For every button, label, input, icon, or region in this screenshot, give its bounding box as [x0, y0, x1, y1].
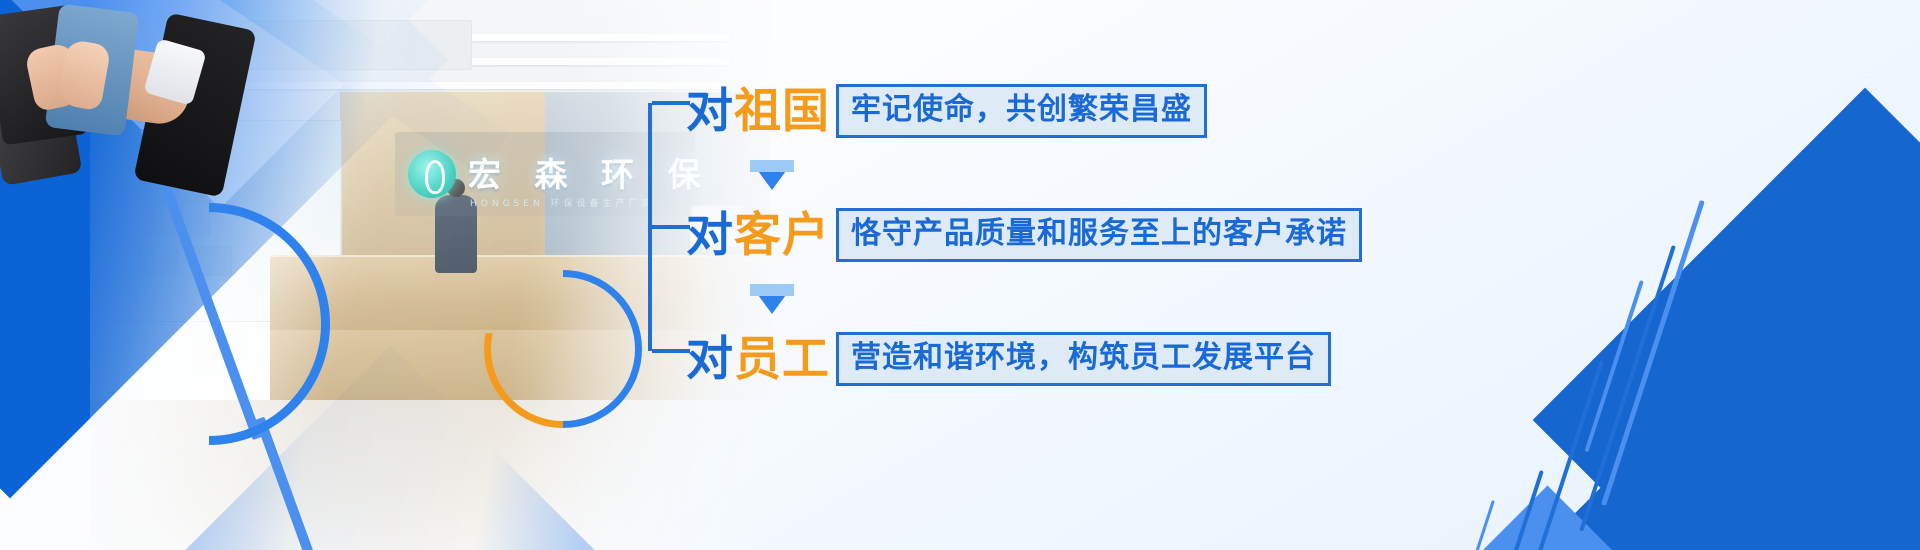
culture-statement-employee: 营造和谐环境，构筑员工发展平台 [836, 332, 1331, 385]
culture-lead-employee: 对员工 [686, 336, 830, 383]
down-arrow-icon-2 [750, 284, 794, 314]
lead-keyword: 祖国 [734, 84, 830, 139]
culture-statement-customer: 恪守产品质量和服务至上的客户承诺 [836, 208, 1362, 261]
lead-prefix: 对 [686, 208, 734, 263]
lead-keyword: 员工 [734, 332, 830, 387]
culture-row-motherland: 对祖国 牢记使命，共创繁荣昌盛 [686, 80, 1207, 142]
culture-row-customer: 对客户 恪守产品质量和服务至上的客户承诺 [686, 204, 1362, 266]
culture-statement-motherland: 牢记使命，共创繁荣昌盛 [836, 84, 1207, 137]
culture-row-employee: 对员工 营造和谐环境，构筑员工发展平台 [686, 328, 1331, 390]
bracket-tick-1 [652, 101, 690, 105]
lead-keyword: 客户 [734, 208, 830, 263]
bracket-connector [648, 103, 690, 351]
bracket-tick-2 [652, 225, 690, 229]
bracket-tick-3 [652, 349, 690, 353]
company-culture-banner: 宏 森 环 保 HONGSEN 环保设备生产厂家 [0, 0, 1920, 550]
down-arrow-icon-1 [750, 160, 794, 190]
lead-prefix: 对 [686, 332, 734, 387]
culture-lead-customer: 对客户 [686, 212, 830, 259]
culture-statement-list: 对祖国 牢记使命，共创繁荣昌盛 对客户 恪守产品质量和服务至上的客户承诺 对员工… [640, 0, 1740, 550]
lead-prefix: 对 [686, 84, 734, 139]
culture-lead-motherland: 对祖国 [686, 88, 830, 135]
